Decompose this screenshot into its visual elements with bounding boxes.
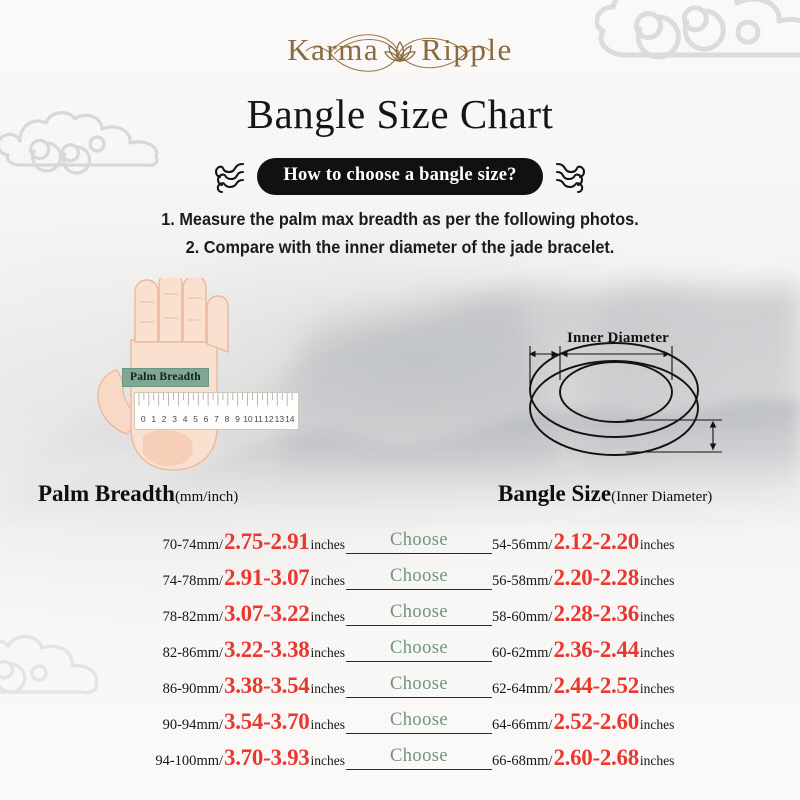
bangle-mm-unit: mm/ <box>526 681 553 698</box>
ruler-ticks <box>135 393 298 408</box>
palm-inches-value: 3.38-3.54 <box>223 673 310 699</box>
bangle-inches-value: 2.36-2.44 <box>552 637 639 663</box>
palm-mm-unit: mm/ <box>196 537 223 554</box>
palm-mm-value: 74-78 <box>163 573 197 590</box>
table-row: 70-74mm/2.75-2.91inchesChoose54-56mm/2.1… <box>0 524 800 560</box>
palm-inches-value: 3.70-3.93 <box>223 745 310 771</box>
table-row: 90-94mm/3.54-3.70inchesChoose64-66mm/2.5… <box>0 704 800 740</box>
bangle-size-cell: 66-68mm/2.60-2.68inches <box>492 745 674 771</box>
ruler-number: 1 <box>148 414 158 424</box>
ruler-number: 13 <box>274 414 284 424</box>
lotus-icon <box>383 36 417 72</box>
palm-inches-value: 3.54-3.70 <box>223 709 310 735</box>
instruction-1: 1. Measure the palm max breadth as per t… <box>28 205 772 233</box>
bangle-mm-value: 58-60 <box>492 609 526 626</box>
brand-name: KarmaRipple <box>287 32 513 72</box>
table-row: 86-90mm/3.38-3.54inchesChoose62-64mm/2.4… <box>0 668 800 704</box>
palm-breadth-subtitle: (mm/inch) <box>175 489 238 505</box>
ruler-number: 0 <box>138 414 148 424</box>
palm-mm-unit: mm/ <box>196 681 223 698</box>
choose-label[interactable]: Choose <box>346 566 492 587</box>
palm-mm-unit: mm/ <box>196 573 223 590</box>
bangle-inches-unit: inches <box>640 717 675 733</box>
palm-mm-unit: mm/ <box>196 717 223 734</box>
palm-breadth-title: Palm Breadth <box>38 481 175 506</box>
bangle-mm-value: 64-66 <box>492 717 526 734</box>
column-header-palm-breadth: Palm Breadth(mm/inch) <box>38 481 238 507</box>
bangle-inches-value: 2.12-2.20 <box>552 529 639 555</box>
palm-inches-unit: inches <box>311 573 346 589</box>
palm-mm-unit: mm/ <box>196 753 223 770</box>
banner: How to choose a bangle size? <box>0 158 800 195</box>
palm-breadth-cell: 74-78mm/2.91-3.07inches <box>163 565 345 591</box>
bangle-inches-value: 2.52-2.60 <box>552 709 639 735</box>
bangle-mm-value: 62-64 <box>492 681 526 698</box>
bangle-size-cell: 54-56mm/2.12-2.20inches <box>492 529 674 555</box>
palm-inches-value: 3.07-3.22 <box>223 601 310 627</box>
bangle-size-cell: 62-64mm/2.44-2.52inches <box>492 673 674 699</box>
ruler-number: 6 <box>201 414 211 424</box>
palm-breadth-cell: 94-100mm/3.70-3.93inches <box>155 745 345 771</box>
choose-label[interactable]: Choose <box>346 602 492 623</box>
bangle-inches-value: 2.60-2.68 <box>552 745 639 771</box>
bangle-inches-value: 2.20-2.28 <box>552 565 639 591</box>
bangle-size-cell: 58-60mm/2.28-2.36inches <box>492 601 674 627</box>
bangle-size-cell: 64-66mm/2.52-2.60inches <box>492 709 674 735</box>
bangle-size-title: Bangle Size <box>498 481 611 506</box>
bangle-inches-unit: inches <box>640 645 675 661</box>
brand-logo: KarmaRipple <box>0 22 800 82</box>
size-table: 70-74mm/2.75-2.91inchesChoose54-56mm/2.1… <box>0 524 800 776</box>
instructions-list: 1. Measure the palm max breadth as per t… <box>0 205 800 261</box>
bangle-mm-unit: mm/ <box>526 609 553 626</box>
bangle-mm-unit: mm/ <box>526 537 553 554</box>
palm-inches-unit: inches <box>311 681 346 697</box>
column-header-bangle-size: Bangle Size(Inner Diameter) <box>498 481 712 507</box>
row-connector-line <box>346 589 492 590</box>
table-row: 82-86mm/3.22-3.38inchesChoose60-62mm/2.3… <box>0 632 800 668</box>
palm-mm-value: 86-90 <box>163 681 197 698</box>
ruler-number: 5 <box>190 414 200 424</box>
bangle-inches-unit: inches <box>640 753 675 769</box>
bangle-mm-value: 56-58 <box>492 573 526 590</box>
choose-label[interactable]: Choose <box>346 674 492 695</box>
palm-breadth-cell: 70-74mm/2.75-2.91inches <box>163 529 345 555</box>
ruler-number: 3 <box>169 414 179 424</box>
ruler-number: 2 <box>159 414 169 424</box>
palm-breadth-cell: 82-86mm/3.22-3.38inches <box>163 637 345 663</box>
bangle-inches-unit: inches <box>640 537 675 553</box>
palm-breadth-cell: 86-90mm/3.38-3.54inches <box>163 673 345 699</box>
bangle-size-cell: 60-62mm/2.36-2.44inches <box>492 637 674 663</box>
bangle-mm-unit: mm/ <box>526 645 553 662</box>
palm-breadth-cell: 90-94mm/3.54-3.70inches <box>163 709 345 735</box>
row-connector-line <box>346 553 492 554</box>
palm-mm-value: 82-86 <box>163 645 197 662</box>
bangle-inches-value: 2.44-2.52 <box>552 673 639 699</box>
choose-label[interactable]: Choose <box>346 710 492 731</box>
palm-inches-value: 3.22-3.38 <box>223 637 310 663</box>
ornament-swirl-right-icon <box>553 159 587 195</box>
palm-mm-value: 94-100 <box>155 753 196 770</box>
brand-name-left: Karma <box>287 32 379 67</box>
palm-inches-value: 2.75-2.91 <box>223 529 310 555</box>
choose-label[interactable]: Choose <box>346 746 492 767</box>
palm-mm-unit: mm/ <box>196 609 223 626</box>
choose-label[interactable]: Choose <box>346 530 492 551</box>
bangle-inches-value: 2.28-2.36 <box>552 601 639 627</box>
palm-inches-unit: inches <box>311 537 346 553</box>
palm-inches-unit: inches <box>311 717 346 733</box>
row-connector-line <box>346 661 492 662</box>
bangle-mm-unit: mm/ <box>526 717 553 734</box>
ruler-number: 11 <box>253 414 263 424</box>
palm-mm-value: 78-82 <box>163 609 197 626</box>
page-title: Bangle Size Chart <box>0 90 800 138</box>
ruler-number: 4 <box>180 414 190 424</box>
palm-breadth-label: Palm Breadth <box>122 368 209 387</box>
bangle-size-subtitle: (Inner Diameter) <box>611 489 712 505</box>
table-row: 74-78mm/2.91-3.07inchesChoose56-58mm/2.2… <box>0 560 800 596</box>
banner-question: How to choose a bangle size? <box>257 158 542 195</box>
bangle-mm-unit: mm/ <box>526 573 553 590</box>
bangle-inches-unit: inches <box>640 609 675 625</box>
row-connector-line <box>346 625 492 626</box>
ornament-swirl-left-icon <box>213 159 247 195</box>
ruler-number: 8 <box>222 414 232 424</box>
bangle-inches-unit: inches <box>640 681 675 697</box>
table-row: 78-82mm/3.07-3.22inchesChoose58-60mm/2.2… <box>0 596 800 632</box>
ruler-number: 7 <box>211 414 221 424</box>
bangle-inches-unit: inches <box>640 573 675 589</box>
palm-mm-value: 70-74 <box>163 537 197 554</box>
bangle-mm-value: 66-68 <box>492 753 526 770</box>
ruler-number: 10 <box>243 414 253 424</box>
palm-breadth-cell: 78-82mm/3.07-3.22inches <box>163 601 345 627</box>
instruction-2: 2. Compare with the inner diameter of th… <box>28 233 772 261</box>
palm-inches-unit: inches <box>311 753 346 769</box>
row-connector-line <box>346 769 492 770</box>
table-row: 94-100mm/3.70-3.93inchesChoose66-68mm/2.… <box>0 740 800 776</box>
bangle-ring-diagram <box>508 328 728 468</box>
row-connector-line <box>346 697 492 698</box>
ruler-number: 9 <box>232 414 242 424</box>
row-connector-line <box>346 733 492 734</box>
bangle-size-cell: 56-58mm/2.20-2.28inches <box>492 565 674 591</box>
ruler-number: 14 <box>285 414 295 424</box>
palm-inches-unit: inches <box>311 609 346 625</box>
palm-mm-value: 90-94 <box>163 717 197 734</box>
choose-label[interactable]: Choose <box>346 638 492 659</box>
palm-mm-unit: mm/ <box>196 645 223 662</box>
bangle-mm-value: 60-62 <box>492 645 526 662</box>
ruler-numbers: 01234567891011121314 <box>135 408 298 430</box>
size-chart-page: KarmaRipple Bangle Size Chart How to cho… <box>0 0 800 800</box>
palm-inches-value: 2.91-3.07 <box>223 565 310 591</box>
brand-name-right: Ripple <box>421 32 513 67</box>
ruler-number: 12 <box>264 414 274 424</box>
bangle-mm-unit: mm/ <box>526 753 553 770</box>
ruler-icon: 01234567891011121314 <box>134 392 299 430</box>
palm-inches-unit: inches <box>311 645 346 661</box>
bangle-mm-value: 54-56 <box>492 537 526 554</box>
